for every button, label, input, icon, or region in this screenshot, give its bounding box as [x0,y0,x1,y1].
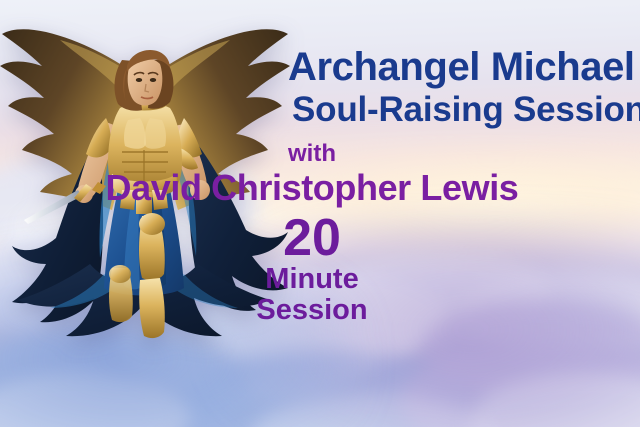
duration-unit: Minute [0,265,632,294]
promo-banner: Archangel Michael Soul-Raising Session w… [0,0,640,427]
presenter-name: David Christopher Lewis [0,170,632,206]
head [115,50,174,111]
with-label: with [0,142,632,166]
headline-line-1: Archangel Michael [288,47,635,87]
duration-session-word: Session [0,296,632,325]
headline-line-2: Soul-Raising Session [292,92,640,127]
duration-number: 20 [0,212,632,264]
